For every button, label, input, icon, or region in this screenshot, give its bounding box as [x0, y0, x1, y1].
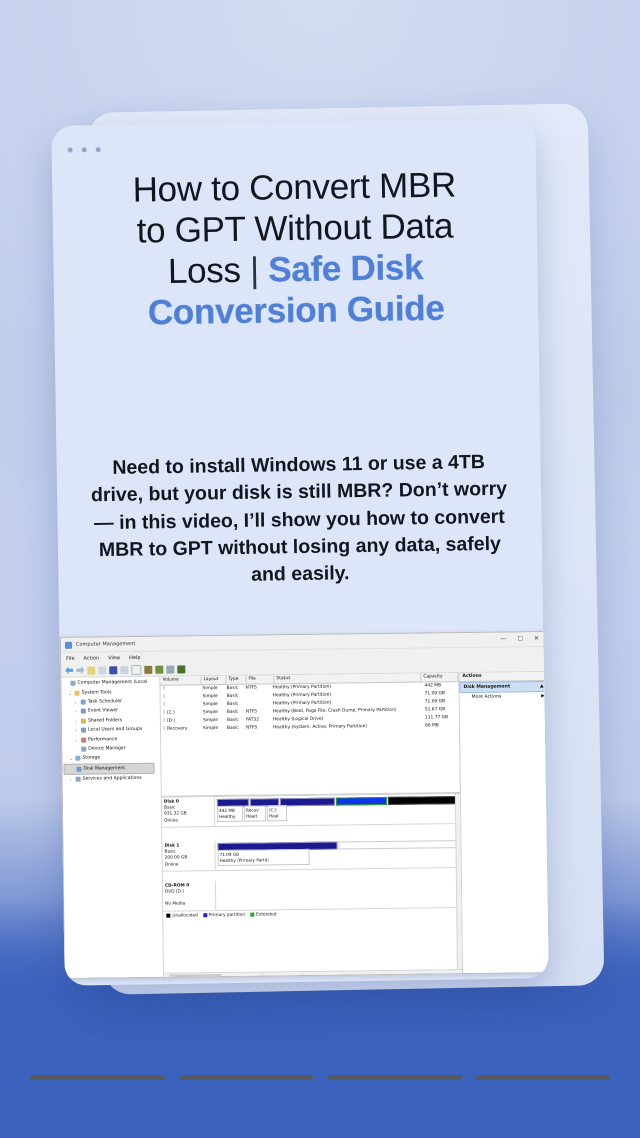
- legend-extended: Extended: [250, 912, 276, 917]
- partition-box[interactable]: (C:) Heal: [267, 805, 287, 821]
- title-line-4-accent: Conversion Guide: [76, 287, 517, 335]
- graphical-disk-view: Disk 0 Basic 931.32 GB Online: [162, 794, 462, 973]
- forward-arrow-icon[interactable]: [76, 666, 84, 674]
- partition-status: Heal: [269, 813, 279, 818]
- disk-row-1[interactable]: Disk 1 Basic 200.00 GB Online: [162, 838, 460, 872]
- window-body: Computer Management (Local ⌄ System Tool…: [61, 672, 548, 979]
- legend-label: Extended: [256, 912, 276, 917]
- partition-box[interactable]: 442 MB Healthy: [217, 806, 243, 822]
- chevron-right-icon[interactable]: ▶: [541, 694, 545, 699]
- disk-state: No Media: [165, 902, 185, 907]
- partition-box[interactable]: Recov Healt: [244, 805, 266, 821]
- window-controls: — ☐ ✕: [501, 636, 543, 643]
- partition-status: Healthy: [219, 814, 235, 819]
- legend-label: Unallocated: [172, 913, 198, 918]
- disk-size: 200.00 GB: [165, 856, 188, 861]
- export-icon[interactable]: [144, 665, 152, 673]
- story-progress-bar: [30, 1075, 610, 1080]
- disk-info-1: Disk 1 Basic 200.00 GB Online: [162, 841, 215, 871]
- volume-list: Volume Layout Type File System Status Ca…: [160, 673, 459, 798]
- maximize-button[interactable]: ☐: [518, 636, 523, 642]
- dot-1-icon: [68, 148, 73, 153]
- disk-name: Disk 0: [164, 799, 179, 804]
- expander-icon[interactable]: ›: [70, 777, 74, 782]
- partition-bar: [217, 796, 458, 805]
- shared-folders-icon: [81, 718, 86, 723]
- partition-segment[interactable]: [280, 798, 335, 807]
- title-line-2: to GPT Without Data: [75, 206, 516, 254]
- progress-segment-3[interactable]: [327, 1075, 462, 1080]
- cell-file-system: NTFS: [244, 724, 271, 732]
- tree-label: Event Viewer: [88, 709, 118, 714]
- cell-capacity: 88 MB: [423, 722, 459, 730]
- title-line-3-accent: Safe Disk: [268, 248, 423, 289]
- disk-size: 931.32 GB: [164, 812, 187, 817]
- expander-icon[interactable]: ›: [75, 728, 79, 733]
- disk-state: Online: [164, 818, 178, 823]
- disk-info-0: Disk 0 Basic 931.32 GB Online: [162, 797, 215, 827]
- progress-segment-2[interactable]: [179, 1075, 314, 1080]
- action-label: Disk Management: [464, 684, 511, 690]
- computer-management-window: Computer Management — ☐ ✕ File Action Vi…: [60, 631, 549, 979]
- computer-icon: [70, 681, 75, 686]
- cell-type: Basic: [225, 717, 244, 725]
- tree-item-services-and-applications[interactable]: › Services and Applications: [64, 774, 161, 785]
- title-line-3-plain: Loss: [168, 251, 241, 291]
- cell-type: Basic: [225, 725, 244, 733]
- disk-type: Basic: [164, 806, 175, 811]
- event-viewer-icon: [81, 709, 86, 714]
- tree-label: Task Scheduler: [88, 699, 122, 704]
- window-dots: [68, 147, 101, 153]
- description-text: Need to install Windows 11 or use a 4TB …: [86, 449, 512, 592]
- tree-label: Performance: [88, 737, 117, 742]
- partition-segment[interactable]: [336, 797, 387, 806]
- tree-label: Services and Applications: [83, 776, 142, 782]
- partition-size: (C:): [269, 807, 277, 812]
- legend-primary-partition: Primary partition: [203, 912, 245, 918]
- tree-label: Device Manager: [88, 746, 125, 751]
- tree-label: Disk Management: [83, 766, 125, 772]
- expander-icon[interactable]: ›: [75, 737, 79, 742]
- cell-type: Basic: [225, 685, 244, 693]
- tree-label: Shared Folders: [88, 718, 122, 723]
- partition-segment-free[interactable]: [338, 840, 458, 849]
- tree-label: Local Users and Groups: [88, 727, 142, 733]
- minimize-button[interactable]: —: [501, 636, 507, 642]
- window-title: Computer Management: [76, 637, 501, 648]
- progress-segment-4[interactable]: [476, 1075, 611, 1080]
- disk-type: DVD (D:): [165, 889, 184, 894]
- scrollbar-thumb[interactable]: [169, 974, 221, 978]
- disk-management-icon: [76, 766, 81, 771]
- disk-partitions-0: 442 MB Healthy Recov Healt (C:): [215, 794, 460, 826]
- disk-row-cdrom[interactable]: CD-ROM 0 DVD (D:) No Media: [163, 878, 461, 912]
- legend-swatch-primary-icon: [203, 913, 207, 917]
- menu-view[interactable]: View: [108, 655, 120, 661]
- screenshot-root: How to Convert MBR to GPT Without Data L…: [0, 0, 640, 1138]
- chevron-up-icon[interactable]: ▲: [540, 684, 544, 689]
- navigation-tree: Computer Management (Local ⌄ System Tool…: [61, 677, 164, 979]
- refresh-icon[interactable]: [120, 666, 128, 674]
- disk-name: CD-ROM 0: [165, 883, 189, 888]
- partition-size: 71.09 GB: [220, 852, 239, 857]
- legend-unallocated: Unallocated: [166, 913, 198, 918]
- volume-list-empty-space: [161, 730, 460, 797]
- disk-icon[interactable]: [155, 665, 163, 673]
- search-icon[interactable]: [166, 665, 174, 673]
- disk-name: Disk 1: [164, 843, 179, 848]
- menu-file[interactable]: File: [66, 655, 74, 661]
- back-arrow-icon[interactable]: [65, 666, 73, 674]
- menu-action[interactable]: Action: [84, 655, 100, 661]
- action-item-more-actions[interactable]: More Actions ▶: [460, 692, 548, 702]
- services-icon: [76, 777, 81, 782]
- partition-detail-boxes: 442 MB Healthy Recov Healt (C:): [217, 803, 458, 822]
- column-header-capacity[interactable]: Capacity: [421, 673, 458, 681]
- close-button[interactable]: ✕: [534, 636, 539, 642]
- disk-type: Basic: [165, 850, 176, 855]
- column-header-file-system[interactable]: File System: [246, 675, 274, 683]
- task-scheduler-icon: [81, 700, 86, 705]
- cell-layout: Simple: [201, 725, 225, 733]
- partition-detail-boxes: 71.09 GB Healthy (Primary Partiti: [218, 847, 459, 866]
- properties-icon[interactable]: [109, 666, 117, 674]
- dot-3-icon: [96, 147, 101, 152]
- tree-label: Computer Management (Local: [77, 680, 147, 686]
- disk-row-0[interactable]: Disk 0 Basic 931.32 GB Online: [162, 794, 460, 828]
- storage-icon: [75, 756, 80, 761]
- tree-label: System Tools: [82, 690, 112, 695]
- actions-pane: Actions Disk Management ▲ More Actions ▶: [458, 672, 548, 975]
- content-card: How to Convert MBR to GPT Without Data L…: [51, 118, 548, 985]
- cell-type: Basic: [225, 709, 244, 717]
- disk-info-cdrom: CD-ROM 0 DVD (D:) No Media: [163, 881, 216, 911]
- column-header-volume[interactable]: Volume: [160, 676, 201, 685]
- cell-type: Basic: [225, 701, 244, 709]
- title-divider: |: [250, 250, 259, 289]
- action-label: More Actions: [472, 695, 502, 700]
- column-header-layout[interactable]: Layout: [201, 676, 226, 684]
- disk-partitions-1: 71.09 GB Healthy (Primary Partiti: [215, 838, 460, 870]
- tree-label: Storage: [82, 756, 100, 761]
- expander-icon[interactable]: ›: [75, 700, 79, 705]
- cell-type: Basic: [225, 693, 244, 701]
- dot-2-icon: [82, 147, 87, 152]
- help-disk-icon[interactable]: [177, 665, 185, 673]
- page-title: How to Convert MBR to GPT Without Data L…: [74, 165, 517, 336]
- cell-volume: ⌷ Recovery: [161, 725, 201, 733]
- partition-segment-unallocated[interactable]: [388, 796, 458, 805]
- up-folder-icon[interactable]: [87, 666, 95, 674]
- expander-icon[interactable]: ›: [75, 709, 79, 714]
- title-line-1: How to Convert MBR: [74, 165, 515, 213]
- list-icon[interactable]: [98, 666, 106, 674]
- menu-help[interactable]: Help: [129, 654, 140, 660]
- legend-label: Primary partition: [209, 912, 245, 917]
- partition-box[interactable]: 71.09 GB Healthy (Primary Partiti: [218, 849, 310, 866]
- partition-bar: [217, 840, 458, 849]
- expander-icon[interactable]: ⌄: [69, 690, 73, 695]
- legend-swatch-unallocated-icon: [166, 914, 170, 918]
- new-doc-icon[interactable]: [131, 664, 141, 674]
- folder-icon: [75, 690, 80, 695]
- disk-partitions-cdrom: [216, 878, 461, 910]
- device-manager-icon: [81, 747, 86, 752]
- expander-icon[interactable]: ⌄: [69, 756, 73, 761]
- expander-icon[interactable]: ›: [75, 718, 79, 723]
- legend-swatch-extended-icon: [250, 913, 254, 917]
- column-header-type[interactable]: Type: [226, 676, 246, 684]
- partition-status: Healt: [246, 813, 257, 818]
- partition-status: Healthy (Primary Partiti: [220, 857, 269, 863]
- disk-state: Online: [165, 862, 179, 867]
- progress-segment-1[interactable]: [30, 1075, 165, 1080]
- partition-size: Recov: [246, 808, 259, 813]
- title-line-3: Loss | Safe Disk: [75, 246, 516, 294]
- disk-management-center-pane: Volume Layout Type File System Status Ca…: [160, 673, 462, 979]
- app-icon: [65, 641, 72, 648]
- partition-size: 442 MB: [219, 808, 235, 813]
- users-icon: [81, 728, 86, 733]
- performance-icon: [81, 737, 86, 742]
